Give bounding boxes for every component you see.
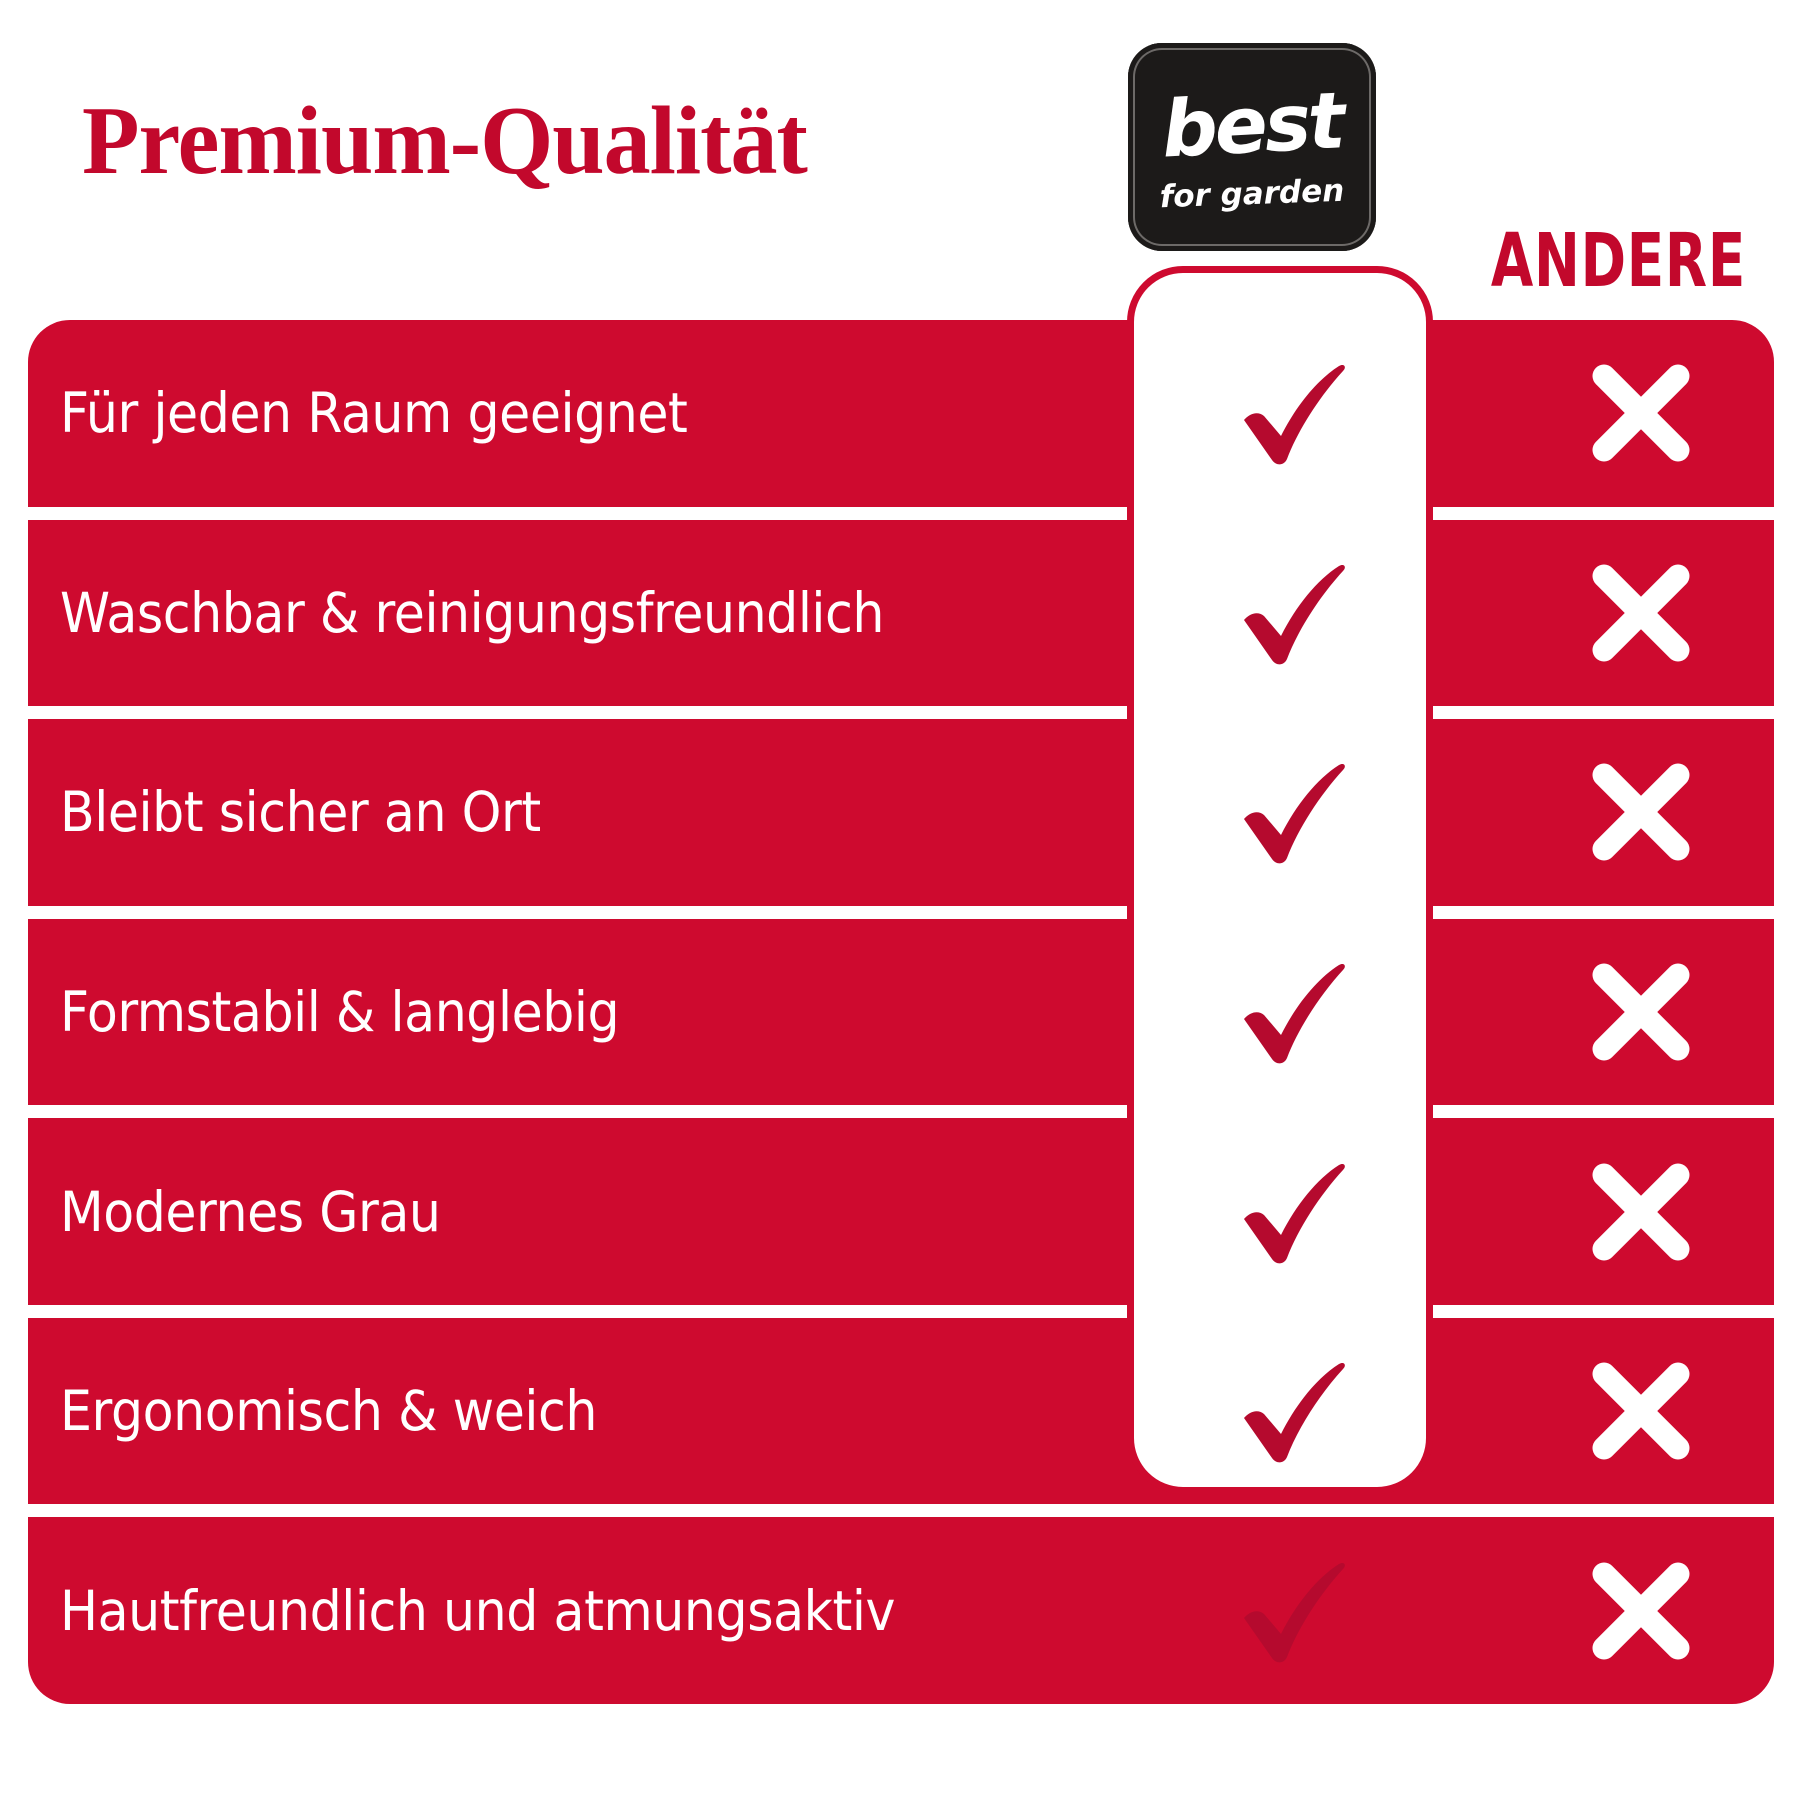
best-cell bbox=[1128, 919, 1458, 1106]
cross-icon bbox=[1587, 1158, 1695, 1266]
brand-logo-badge: best for garden bbox=[1128, 43, 1376, 251]
others-cell bbox=[1476, 1318, 1800, 1505]
feature-comparison-table: Für jeden Raum geeignet Waschbar & reini… bbox=[28, 320, 1774, 1704]
feature-label-text: Hautfreundlich und atmungsaktiv bbox=[60, 1581, 895, 1642]
table-row: Bleibt sicher an Ort bbox=[28, 719, 1774, 906]
feature-label-text: Formstabil & langlebig bbox=[60, 982, 619, 1043]
cross-icon bbox=[1587, 559, 1695, 667]
feature-label: Für jeden Raum geeignet bbox=[60, 383, 742, 444]
cross-icon bbox=[1587, 1557, 1695, 1665]
others-cell bbox=[1476, 719, 1800, 906]
others-cell bbox=[1476, 520, 1800, 707]
cross-icon bbox=[1587, 758, 1695, 866]
feature-label: Modernes Grau bbox=[60, 1181, 474, 1242]
feature-label: Ergonomisch & weich bbox=[60, 1381, 644, 1442]
feature-label: Bleibt sicher an Ort bbox=[60, 782, 583, 843]
feature-label: Hautfreundlich und atmungsaktiv bbox=[60, 1581, 968, 1642]
best-cell bbox=[1128, 520, 1458, 707]
check-icon bbox=[1234, 757, 1352, 867]
best-cell bbox=[1128, 1118, 1458, 1305]
table-row: Formstabil & langlebig bbox=[28, 919, 1774, 1106]
feature-label-text: Modernes Grau bbox=[60, 1181, 441, 1242]
table-row: Ergonomisch & weich bbox=[28, 1318, 1774, 1505]
feature-label-text: Bleibt sicher an Ort bbox=[60, 782, 541, 843]
table-row: Waschbar & reinigungsfreundlich bbox=[28, 520, 1774, 707]
page-title: Premium-Qualität bbox=[82, 92, 807, 189]
check-icon bbox=[1234, 957, 1352, 1067]
compare-column-header: ANDERE bbox=[1491, 224, 1735, 298]
table-row: Für jeden Raum geeignet bbox=[28, 320, 1774, 507]
best-cell bbox=[1128, 1517, 1458, 1704]
table-row: Hautfreundlich und atmungsaktiv bbox=[28, 1517, 1774, 1704]
feature-label-text: Für jeden Raum geeignet bbox=[60, 383, 687, 444]
check-icon bbox=[1234, 558, 1352, 668]
feature-label: Formstabil & langlebig bbox=[60, 982, 668, 1043]
others-cell bbox=[1476, 320, 1800, 507]
feature-label: Waschbar & reinigungsfreundlich bbox=[60, 583, 956, 644]
check-icon bbox=[1234, 1556, 1352, 1666]
others-cell bbox=[1476, 1517, 1800, 1704]
check-icon bbox=[1234, 1157, 1352, 1267]
check-icon bbox=[1234, 1356, 1352, 1466]
best-cell bbox=[1128, 719, 1458, 906]
others-cell bbox=[1476, 919, 1800, 1106]
cross-icon bbox=[1587, 958, 1695, 1066]
others-cell bbox=[1476, 1118, 1800, 1305]
cross-icon bbox=[1587, 1357, 1695, 1465]
check-icon bbox=[1234, 358, 1352, 468]
best-cell bbox=[1128, 1318, 1458, 1505]
feature-label-text: Waschbar & reinigungsfreundlich bbox=[60, 583, 884, 644]
table-row: Modernes Grau bbox=[28, 1118, 1774, 1305]
brand-tagline-text: for garden bbox=[1128, 175, 1377, 215]
feature-label-text: Ergonomisch & weich bbox=[60, 1381, 597, 1442]
brand-name-text: best bbox=[1126, 81, 1378, 172]
best-cell bbox=[1128, 320, 1458, 507]
cross-icon bbox=[1587, 359, 1695, 467]
